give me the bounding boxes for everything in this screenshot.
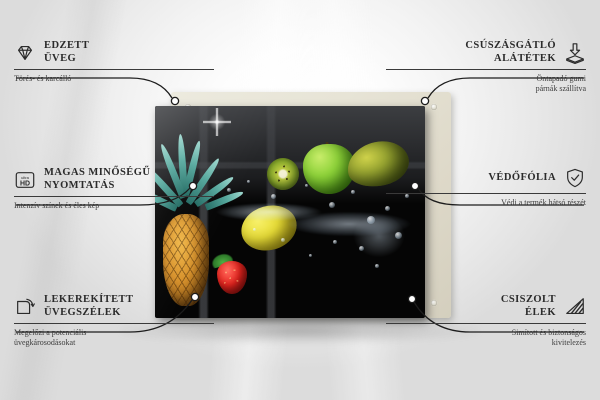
feature-description: Simított és biztonságos <box>386 328 586 338</box>
feature-description-2: kivitelezés <box>386 338 586 348</box>
divider <box>386 69 586 70</box>
diamond-icon <box>14 42 36 64</box>
glass-sheen <box>155 106 425 318</box>
feature-title: EDZETT ÜVEG <box>44 40 89 65</box>
feature-title: CSÚSZÁSGÁTLÓ ALÁTÉTEK <box>465 40 556 65</box>
feature-description: Intenzív színek és éles kép <box>14 201 214 211</box>
feature-description: Öntapadó gumi <box>386 74 586 84</box>
feature-title: VÉDŐFÓLIA <box>488 172 556 185</box>
feature-description: Törés- és karcálló <box>14 74 214 84</box>
feature-polished-edges: CSISZOLT ÉLEK Simított és biztonságos ki… <box>386 294 586 348</box>
feature-title: LEKEREKÍTETT ÜVEGSZÉLEK <box>44 294 133 319</box>
rounded-corner-icon <box>14 296 36 318</box>
feature-title-line2: ÜVEGSZÉLEK <box>44 307 133 320</box>
feature-title-line2: ALÁTÉTEK <box>465 53 556 66</box>
feature-tempered-glass: EDZETT ÜVEG Törés- és karcálló <box>14 40 214 84</box>
feature-protective-film: VÉDŐFÓLIA Védi a termék hátsó részét <box>386 167 586 208</box>
feature-title-line2: NYOMTATÁS <box>44 180 150 193</box>
divider <box>14 323 214 324</box>
feature-title: CSISZOLT ÉLEK <box>501 294 556 319</box>
feature-header: CSISZOLT ÉLEK <box>386 294 586 319</box>
feature-description: Megelőzi a potenciális <box>14 328 214 338</box>
infographic-canvas: EDZETT ÜVEG Törés- és karcálló ultra HD … <box>0 0 600 400</box>
feature-description: Védi a termék hátsó részét <box>386 198 586 208</box>
feature-header: EDZETT ÜVEG <box>14 40 214 65</box>
feature-header: ultra HD MAGAS MINŐSÉGŰ NYOMTATÁS <box>14 167 214 192</box>
feature-header: CSÚSZÁSGÁTLÓ ALÁTÉTEK <box>386 40 586 65</box>
svg-text:ultra: ultra <box>21 175 30 180</box>
divider <box>14 69 214 70</box>
feature-title-line1: EDZETT <box>44 40 89 53</box>
mounting-screw <box>431 104 437 110</box>
feature-description-2: üvegkárosodásokat <box>14 338 214 348</box>
svg-text:HD: HD <box>20 180 30 187</box>
feature-title-line2: ÉLEK <box>501 307 556 320</box>
feature-title-line1: CSISZOLT <box>501 294 556 307</box>
feature-header: VÉDŐFÓLIA <box>386 167 586 189</box>
feature-rounded-glass-edges: LEKEREKÍTETT ÜVEGSZÉLEK Megelőzi a poten… <box>14 294 214 348</box>
shield-check-icon <box>564 167 586 189</box>
glass-sparkle-highlight <box>203 108 231 136</box>
feature-title: MAGAS MINŐSÉGŰ NYOMTATÁS <box>44 167 150 192</box>
feature-anti-slip-pads: CSÚSZÁSGÁTLÓ ALÁTÉTEK Öntapadó gumi párn… <box>386 40 586 94</box>
feature-title-line1: CSÚSZÁSGÁTLÓ <box>465 40 556 53</box>
feature-title-line1: MAGAS MINŐSÉGŰ <box>44 167 150 180</box>
feature-description-2: párnák szállítva <box>386 84 586 94</box>
ultra-hd-icon: ultra HD <box>14 169 36 191</box>
divider <box>14 196 214 197</box>
divider <box>386 193 586 194</box>
feature-title-line1: VÉDŐFÓLIA <box>488 172 556 185</box>
hatched-triangle-icon <box>564 296 586 318</box>
feature-title-line1: LEKEREKÍTETT <box>44 294 133 307</box>
feature-high-quality-print: ultra HD MAGAS MINŐSÉGŰ NYOMTATÁS Intenz… <box>14 167 214 211</box>
press-down-pad-icon <box>564 42 586 64</box>
printed-glass-panel <box>155 106 425 318</box>
divider <box>386 323 586 324</box>
feature-title-line2: ÜVEG <box>44 53 89 66</box>
feature-header: LEKEREKÍTETT ÜVEGSZÉLEK <box>14 294 214 319</box>
